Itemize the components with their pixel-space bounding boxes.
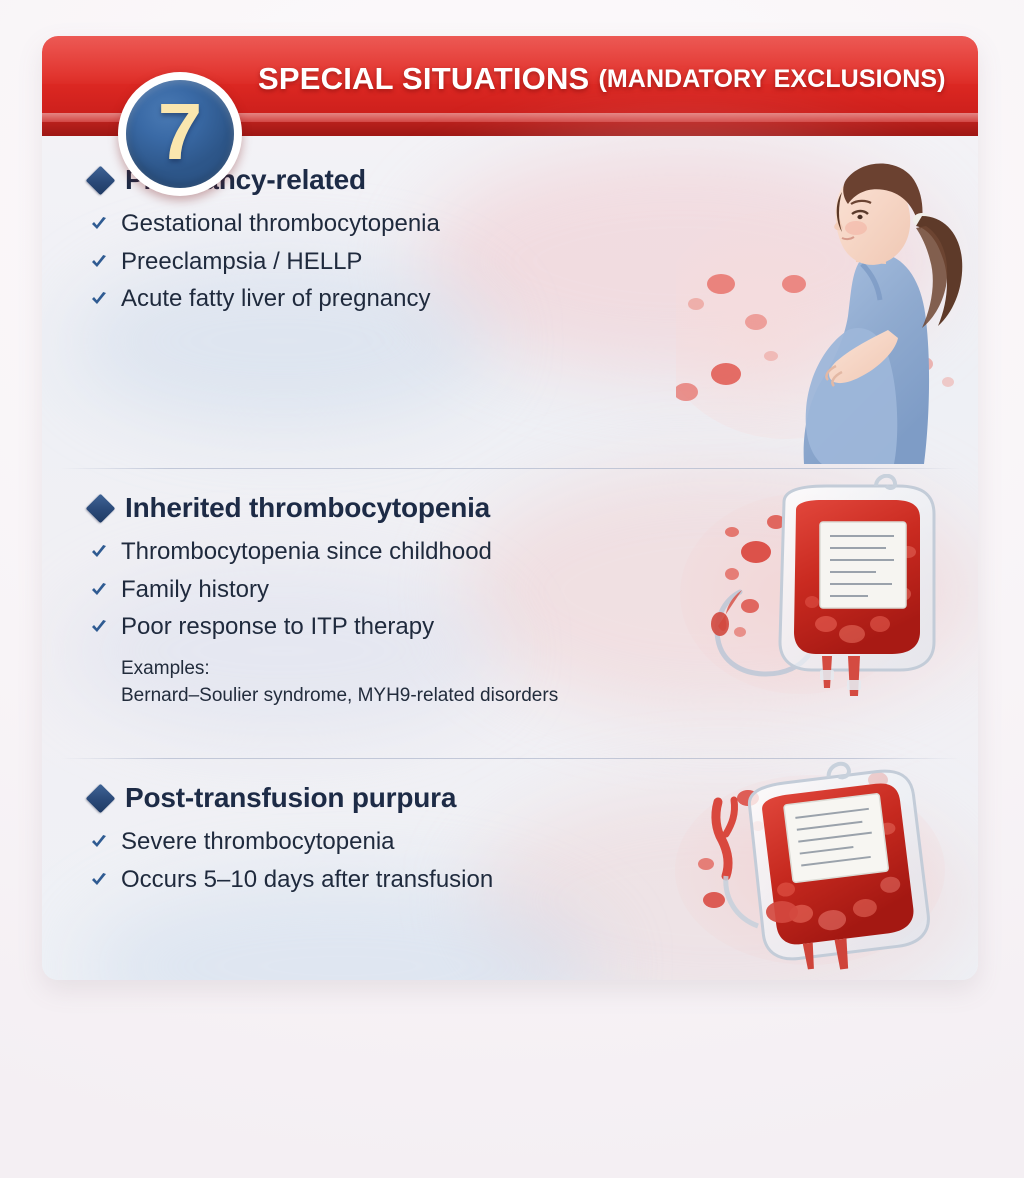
examples-label: Examples: bbox=[121, 655, 730, 683]
list-item-label: Thrombocytopenia since childhood bbox=[121, 538, 492, 566]
section-divider bbox=[60, 758, 960, 759]
badge-number-text: 7 bbox=[158, 92, 203, 172]
list-item-label: Family history bbox=[121, 576, 269, 604]
section-number-badge: 7 bbox=[118, 72, 242, 196]
diamond-bullet-icon bbox=[86, 165, 116, 195]
section-3-heading-text: Post-transfusion purpura bbox=[125, 782, 456, 814]
check-icon bbox=[90, 253, 108, 271]
list-item: Severe thrombocytopenia bbox=[90, 828, 730, 856]
section-divider bbox=[60, 468, 960, 469]
section-3-bullets: Severe thrombocytopenia Occurs 5–10 days… bbox=[90, 828, 730, 893]
list-item-label: Poor response to ITP therapy bbox=[121, 613, 434, 641]
header-title-main: SPECIAL SITUATIONS bbox=[258, 61, 589, 97]
list-item-label: Occurs 5–10 days after transfusion bbox=[121, 866, 493, 894]
list-item: Family history bbox=[90, 576, 730, 604]
section-3-content: Post-transfusion purpura Severe thromboc… bbox=[90, 782, 730, 903]
check-icon bbox=[90, 833, 108, 851]
section-1-bullets: Gestational thrombocytopenia Preeclampsi… bbox=[90, 210, 730, 313]
page-background: SPECIAL SITUATIONS (MANDATORY EXCLUSIONS… bbox=[0, 0, 1024, 1178]
check-icon bbox=[90, 543, 108, 561]
list-item-label: Gestational thrombocytopenia bbox=[121, 210, 440, 238]
diamond-bullet-icon bbox=[86, 493, 116, 523]
diamond-bullet-icon bbox=[86, 783, 116, 813]
card-body: Pregnancy-related Gestational thrombocyt… bbox=[42, 136, 978, 980]
badge-inner: 7 bbox=[126, 80, 234, 188]
check-icon bbox=[90, 618, 108, 636]
section-inherited-thrombocytopenia: Inherited thrombocytopenia Thrombocytope… bbox=[42, 468, 978, 758]
list-item: Occurs 5–10 days after transfusion bbox=[90, 866, 730, 894]
examples-text: Bernard–Soulier syndrome, MYH9-related d… bbox=[121, 682, 730, 710]
section-2-examples: Examples: Bernard–Soulier syndrome, MYH9… bbox=[121, 655, 730, 710]
check-icon bbox=[90, 215, 108, 233]
section-2-content: Inherited thrombocytopenia Thrombocytope… bbox=[90, 492, 730, 710]
list-item-label: Acute fatty liver of pregnancy bbox=[121, 285, 431, 313]
check-icon bbox=[90, 581, 108, 599]
list-item: Thrombocytopenia since childhood bbox=[90, 538, 730, 566]
list-item-label: Severe thrombocytopenia bbox=[121, 828, 395, 856]
list-item: Preeclampsia / HELLP bbox=[90, 248, 730, 276]
section-2-heading-text: Inherited thrombocytopenia bbox=[125, 492, 490, 524]
list-item: Acute fatty liver of pregnancy bbox=[90, 285, 730, 313]
section-2-heading: Inherited thrombocytopenia bbox=[90, 492, 730, 524]
list-item-label: Preeclampsia / HELLP bbox=[121, 248, 362, 276]
infographic-card: SPECIAL SITUATIONS (MANDATORY EXCLUSIONS… bbox=[42, 36, 978, 980]
list-item: Poor response to ITP therapy bbox=[90, 613, 730, 641]
section-2-bullets: Thrombocytopenia since childhood Family … bbox=[90, 538, 730, 641]
list-item: Gestational thrombocytopenia bbox=[90, 210, 730, 238]
header-title-sub: (MANDATORY EXCLUSIONS) bbox=[598, 65, 945, 94]
section-post-transfusion-purpura: Post-transfusion purpura Severe thromboc… bbox=[42, 758, 978, 980]
check-icon bbox=[90, 871, 108, 889]
header-title: SPECIAL SITUATIONS (MANDATORY EXCLUSIONS… bbox=[258, 36, 946, 122]
check-icon bbox=[90, 290, 108, 308]
section-3-heading: Post-transfusion purpura bbox=[90, 782, 730, 814]
